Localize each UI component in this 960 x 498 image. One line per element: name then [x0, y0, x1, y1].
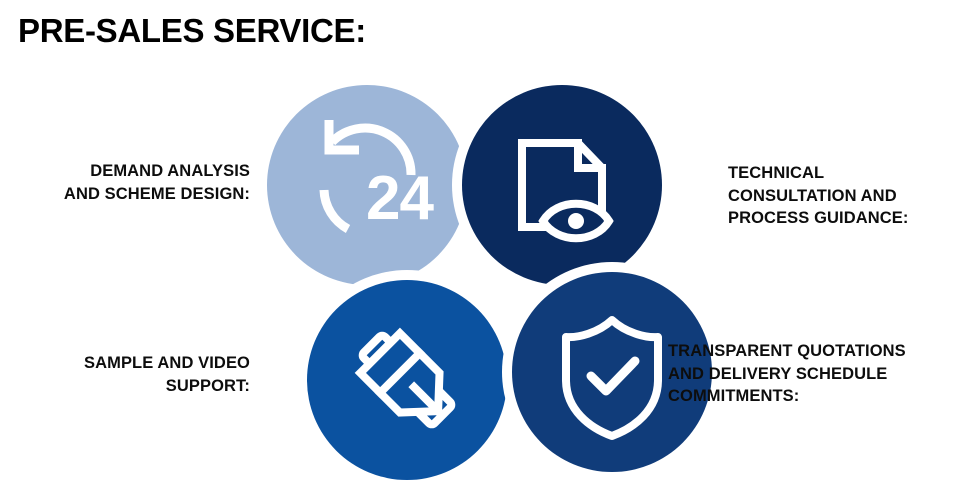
- label-line: DEMAND ANALYSIS: [10, 160, 250, 183]
- circle-sample-video-support[interactable]: [307, 280, 507, 480]
- label-line: PROCESS GUIDANCE:: [728, 207, 953, 230]
- label-line: AND SCHEME DESIGN:: [10, 183, 250, 206]
- circle-technical-consultation[interactable]: [462, 85, 662, 285]
- label-demand-analysis: DEMAND ANALYSIS AND SCHEME DESIGN:: [10, 160, 250, 205]
- label-line: TECHNICAL: [728, 162, 953, 185]
- label-line: SAMPLE AND VIDEO: [10, 352, 250, 375]
- label-line: TRANSPARENT QUOTATIONS: [668, 340, 960, 363]
- label-technical-consultation: TECHNICAL CONSULTATION AND PROCESS GUIDA…: [728, 162, 953, 230]
- circle-cluster-svg: 24: [262, 80, 702, 490]
- circle-cluster: 24: [262, 80, 702, 490]
- label-sample-video-support: SAMPLE AND VIDEO SUPPORT:: [10, 352, 250, 397]
- icon-text-24: 24: [366, 164, 434, 233]
- label-transparent-quotations: TRANSPARENT QUOTATIONS AND DELIVERY SCHE…: [668, 340, 960, 408]
- svg-text:24: 24: [366, 164, 434, 233]
- pre-sales-service-infographic: PRE-SALES SERVICE:: [0, 0, 960, 498]
- label-line: SUPPORT:: [10, 375, 250, 398]
- label-line: CONSULTATION AND: [728, 185, 953, 208]
- label-line: COMMITMENTS:: [668, 385, 960, 408]
- circle-demand-analysis[interactable]: 24: [267, 85, 467, 285]
- page-title: PRE-SALES SERVICE:: [18, 12, 366, 50]
- label-line: AND DELIVERY SCHEDULE: [668, 363, 960, 386]
